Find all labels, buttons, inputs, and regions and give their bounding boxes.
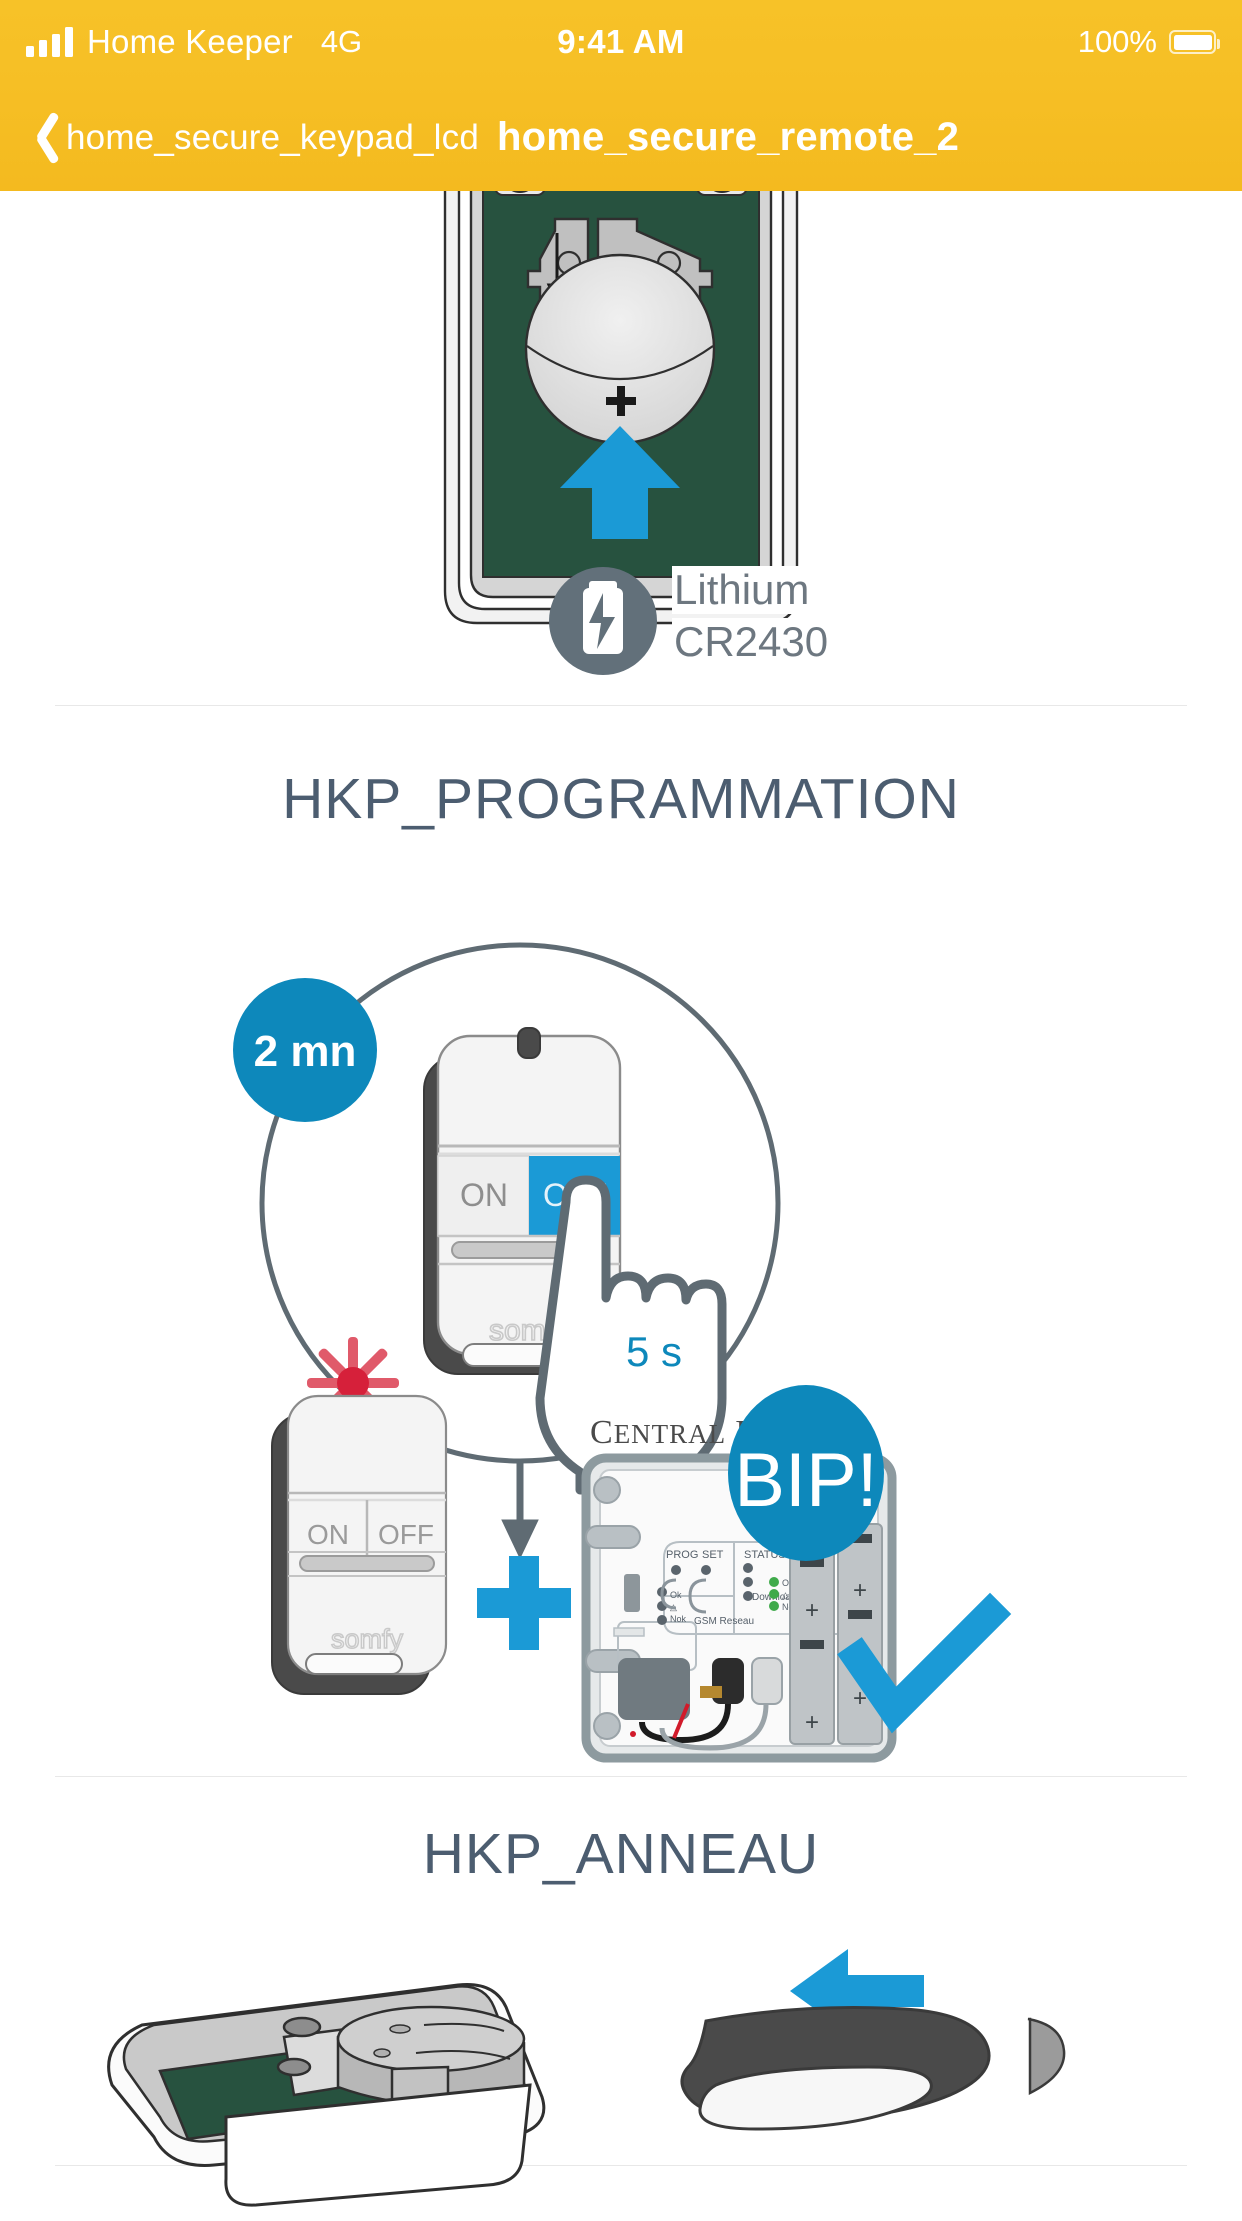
section-programmation: HKP_PROGRAMMATION ON OFF xyxy=(0,706,1242,1776)
page-title: home_secure_remote_2 xyxy=(497,115,959,160)
battery-full-icon xyxy=(1169,30,1216,54)
svg-text:+: + xyxy=(853,1577,867,1604)
timer-badge-text: 2 mn xyxy=(254,1027,357,1076)
svg-text:△: △ xyxy=(782,1590,789,1600)
back-button-label[interactable]: home_secure_keypad_lcd xyxy=(66,118,479,158)
status-bar: Home Keeper 4G 9:41 AM 100% xyxy=(0,0,1242,84)
battery-type-line1-label: Lithium xyxy=(672,566,811,614)
signal-bars-icon xyxy=(26,27,73,57)
programmation-illustration: ON OFF somfy 5 s 2 mn xyxy=(0,858,1242,1778)
remote2-brand-text: somfy xyxy=(331,1624,404,1654)
section-title-anneau: HKP_ANNEAU xyxy=(0,1821,1242,1887)
back-chevron-icon[interactable] xyxy=(26,109,60,165)
remote-exploded xyxy=(109,1984,544,2205)
carrier-name: Home Keeper xyxy=(87,23,293,61)
network-type: 4G xyxy=(321,24,362,60)
remote-with-led: ON OFF somfy xyxy=(272,1318,446,1694)
battery-percentage: 100% xyxy=(1078,24,1157,60)
pcb-gsm-label: GSM Reseau xyxy=(694,1616,754,1627)
remote2-off-text: OFF xyxy=(378,1519,434,1550)
section-battery-insert: Lithium CR2430 Lithium CR2430 xyxy=(0,191,1242,705)
anneau-illustration xyxy=(0,1921,1242,2221)
remote-on-text: ON xyxy=(460,1177,508,1213)
flow-arrow-down-icon xyxy=(502,1461,538,1558)
beep-badge-text: BIP! xyxy=(734,1438,878,1523)
hold-duration-text: 5 s xyxy=(626,1328,682,1375)
pcb-prog-label: PROG xyxy=(666,1549,698,1561)
plus-sign-icon xyxy=(477,1556,571,1650)
key-ring xyxy=(682,2008,1064,2130)
svg-text:+: + xyxy=(805,1597,819,1624)
status-bar-left: Home Keeper 4G xyxy=(26,23,362,61)
svg-text:Ok: Ok xyxy=(670,1590,682,1600)
status-bar-right: 100% xyxy=(1078,24,1216,60)
remote2-on-text: ON xyxy=(307,1519,349,1550)
pcb-set-label: SET xyxy=(702,1549,724,1561)
battery-insert-illustration: Lithium CR2430 xyxy=(0,191,1242,705)
battery-type-line2-label: CR2430 xyxy=(672,618,830,666)
section-anneau: HKP_ANNEAU xyxy=(0,1777,1242,2157)
svg-text:+: + xyxy=(805,1709,819,1736)
scroll-content[interactable]: Lithium CR2430 Lithium CR2430 HKP_PROGRA… xyxy=(0,191,1242,2208)
section-title-programmation: HKP_PROGRAMMATION xyxy=(0,766,1242,832)
navigation-bar: home_secure_keypad_lcd home_secure_remot… xyxy=(0,84,1242,191)
svg-text:Nok: Nok xyxy=(670,1614,687,1624)
